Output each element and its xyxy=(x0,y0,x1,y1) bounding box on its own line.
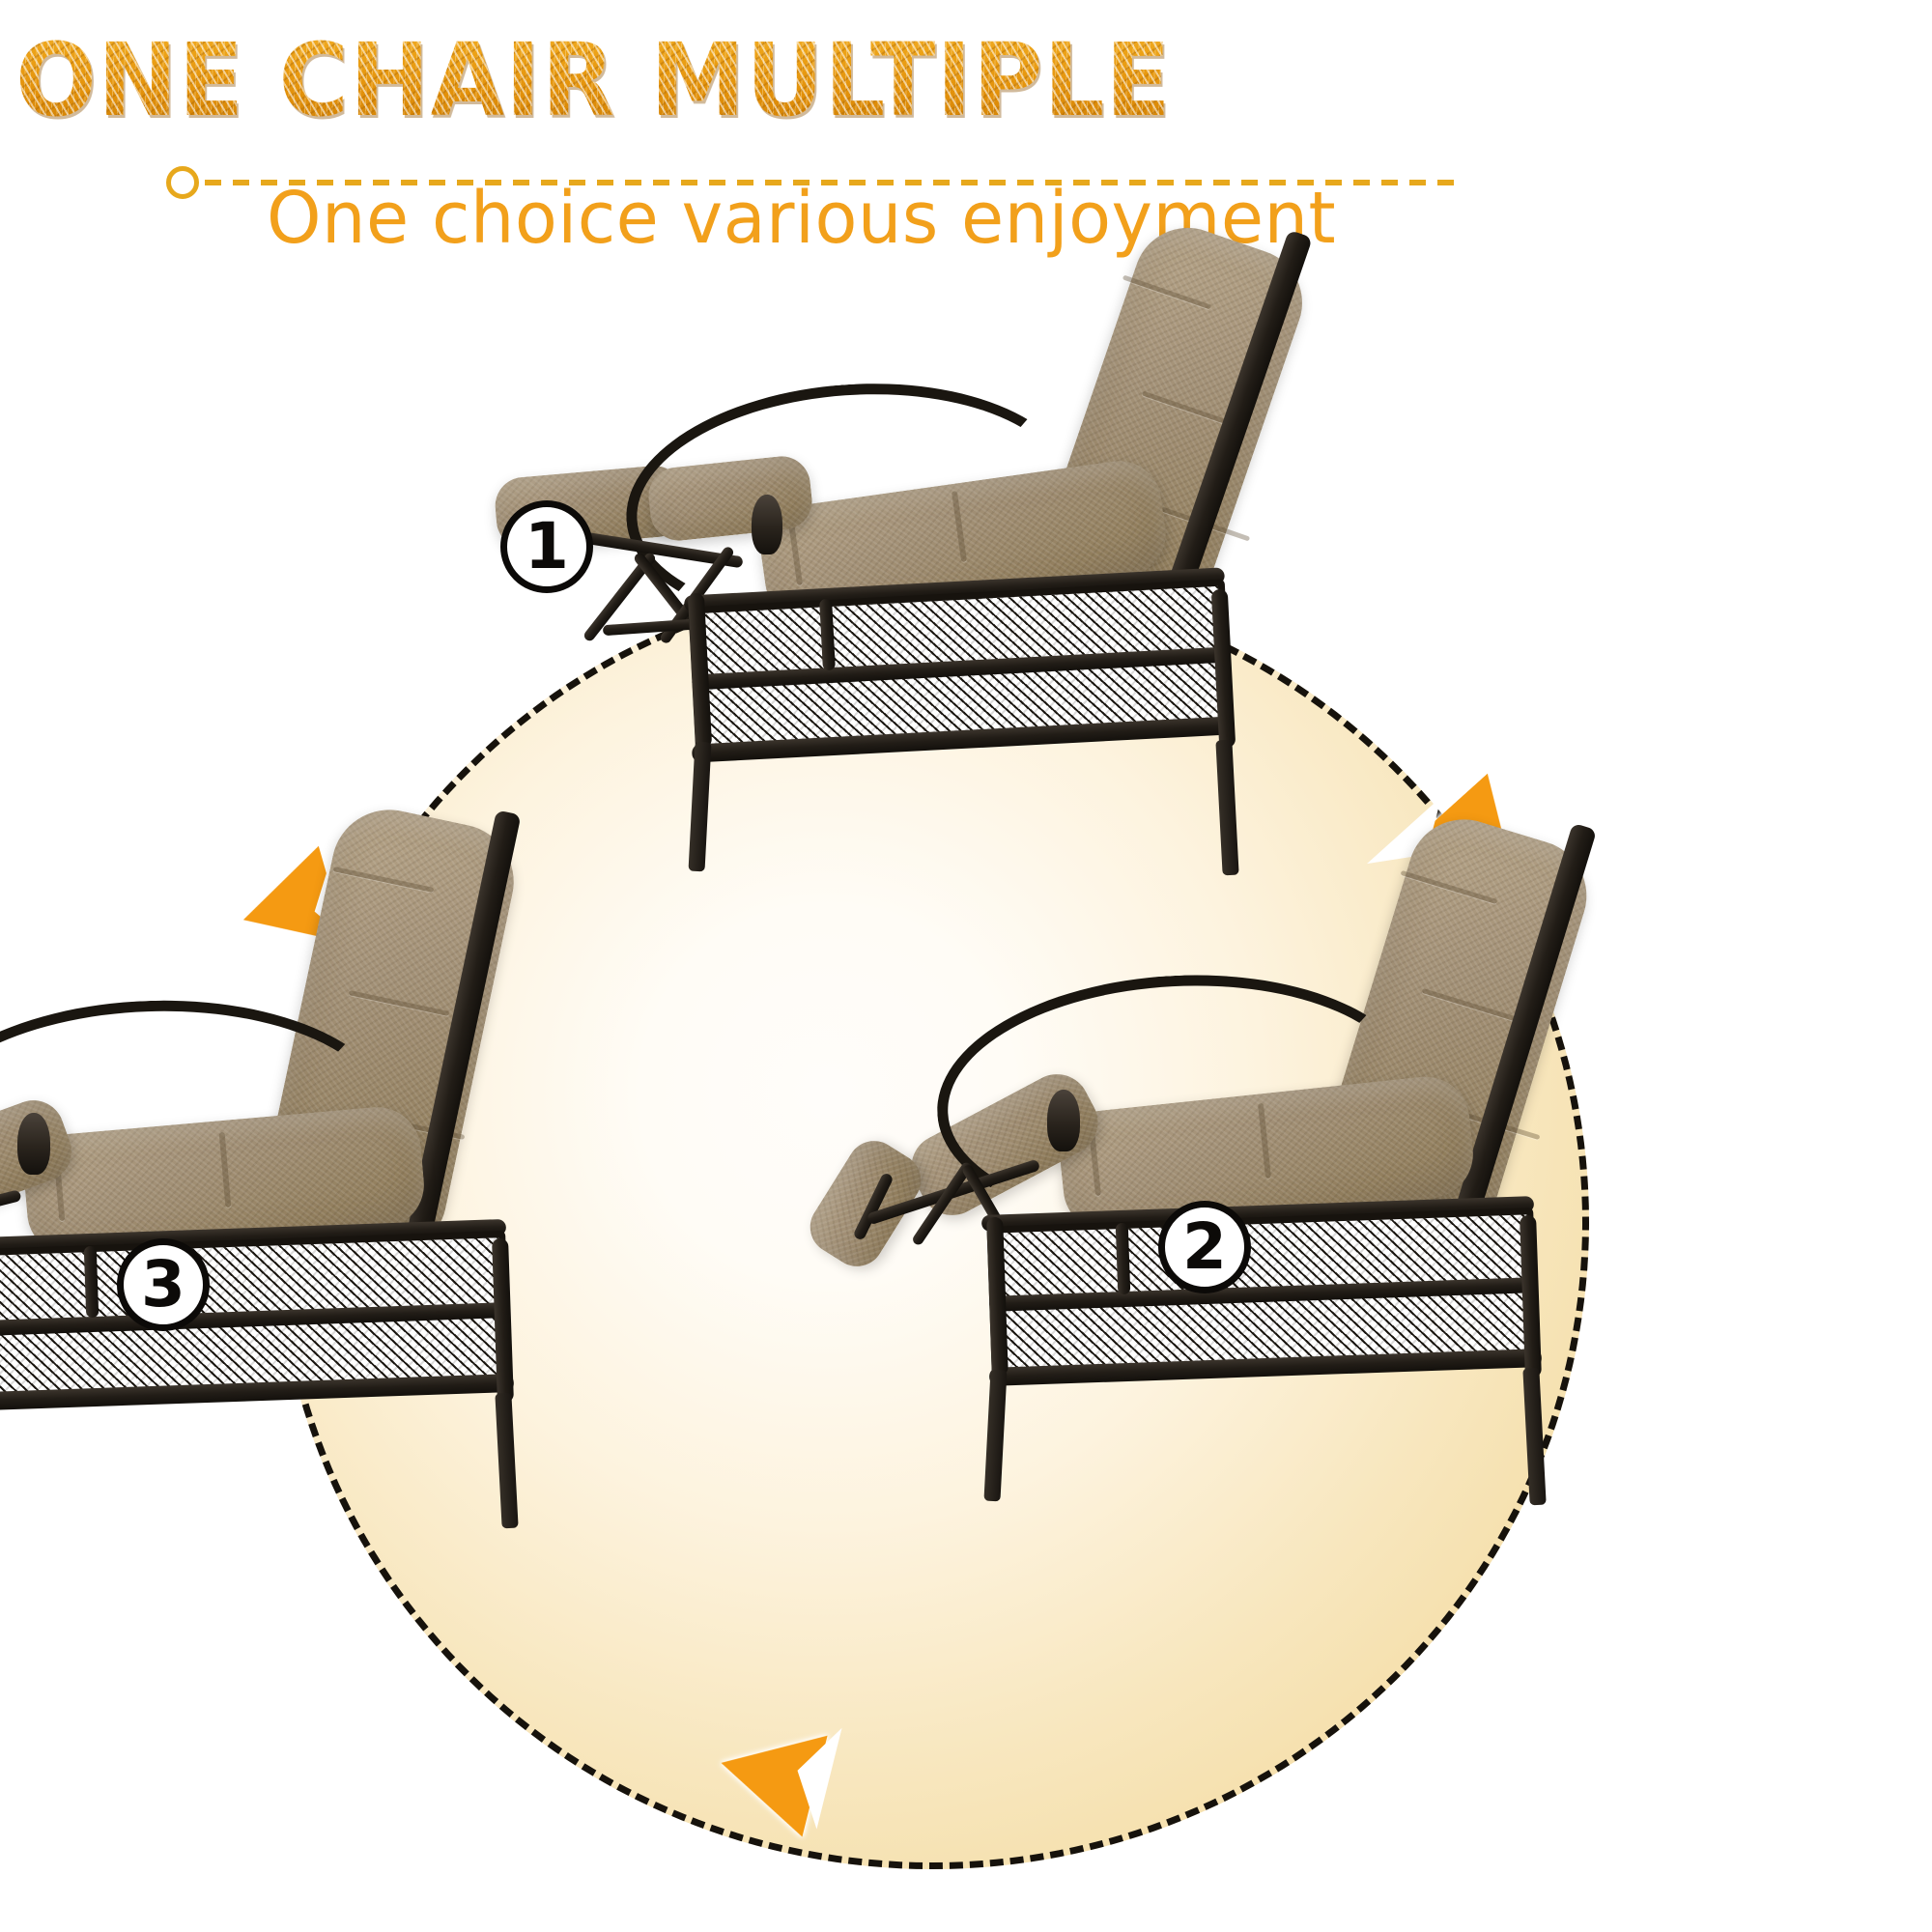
chair-leg xyxy=(495,1393,518,1529)
chair-arm-knob xyxy=(752,495,782,554)
product-photo-step-3 xyxy=(0,831,908,1565)
chair-arm-knob xyxy=(17,1113,50,1175)
page-title: ONE CHAIR MULTIPLE USES xyxy=(15,17,1172,143)
chair-leg xyxy=(1522,1368,1546,1506)
page-subtitle: One choice various enjoyment xyxy=(267,160,1269,276)
chair-leg xyxy=(983,1370,1007,1502)
infographic-canvas: ONE CHAIR MULTIPLE USES ONE CHAIR MULTIP… xyxy=(0,0,1932,1932)
step-badge-1: 1 xyxy=(500,500,593,593)
product-photo-step-2 xyxy=(947,831,1932,1565)
step-badge-2: 2 xyxy=(1158,1201,1251,1293)
chair-arm-knob xyxy=(1047,1090,1080,1151)
step-badge-3: 3 xyxy=(117,1238,210,1331)
circle-outline-icon xyxy=(166,166,199,199)
